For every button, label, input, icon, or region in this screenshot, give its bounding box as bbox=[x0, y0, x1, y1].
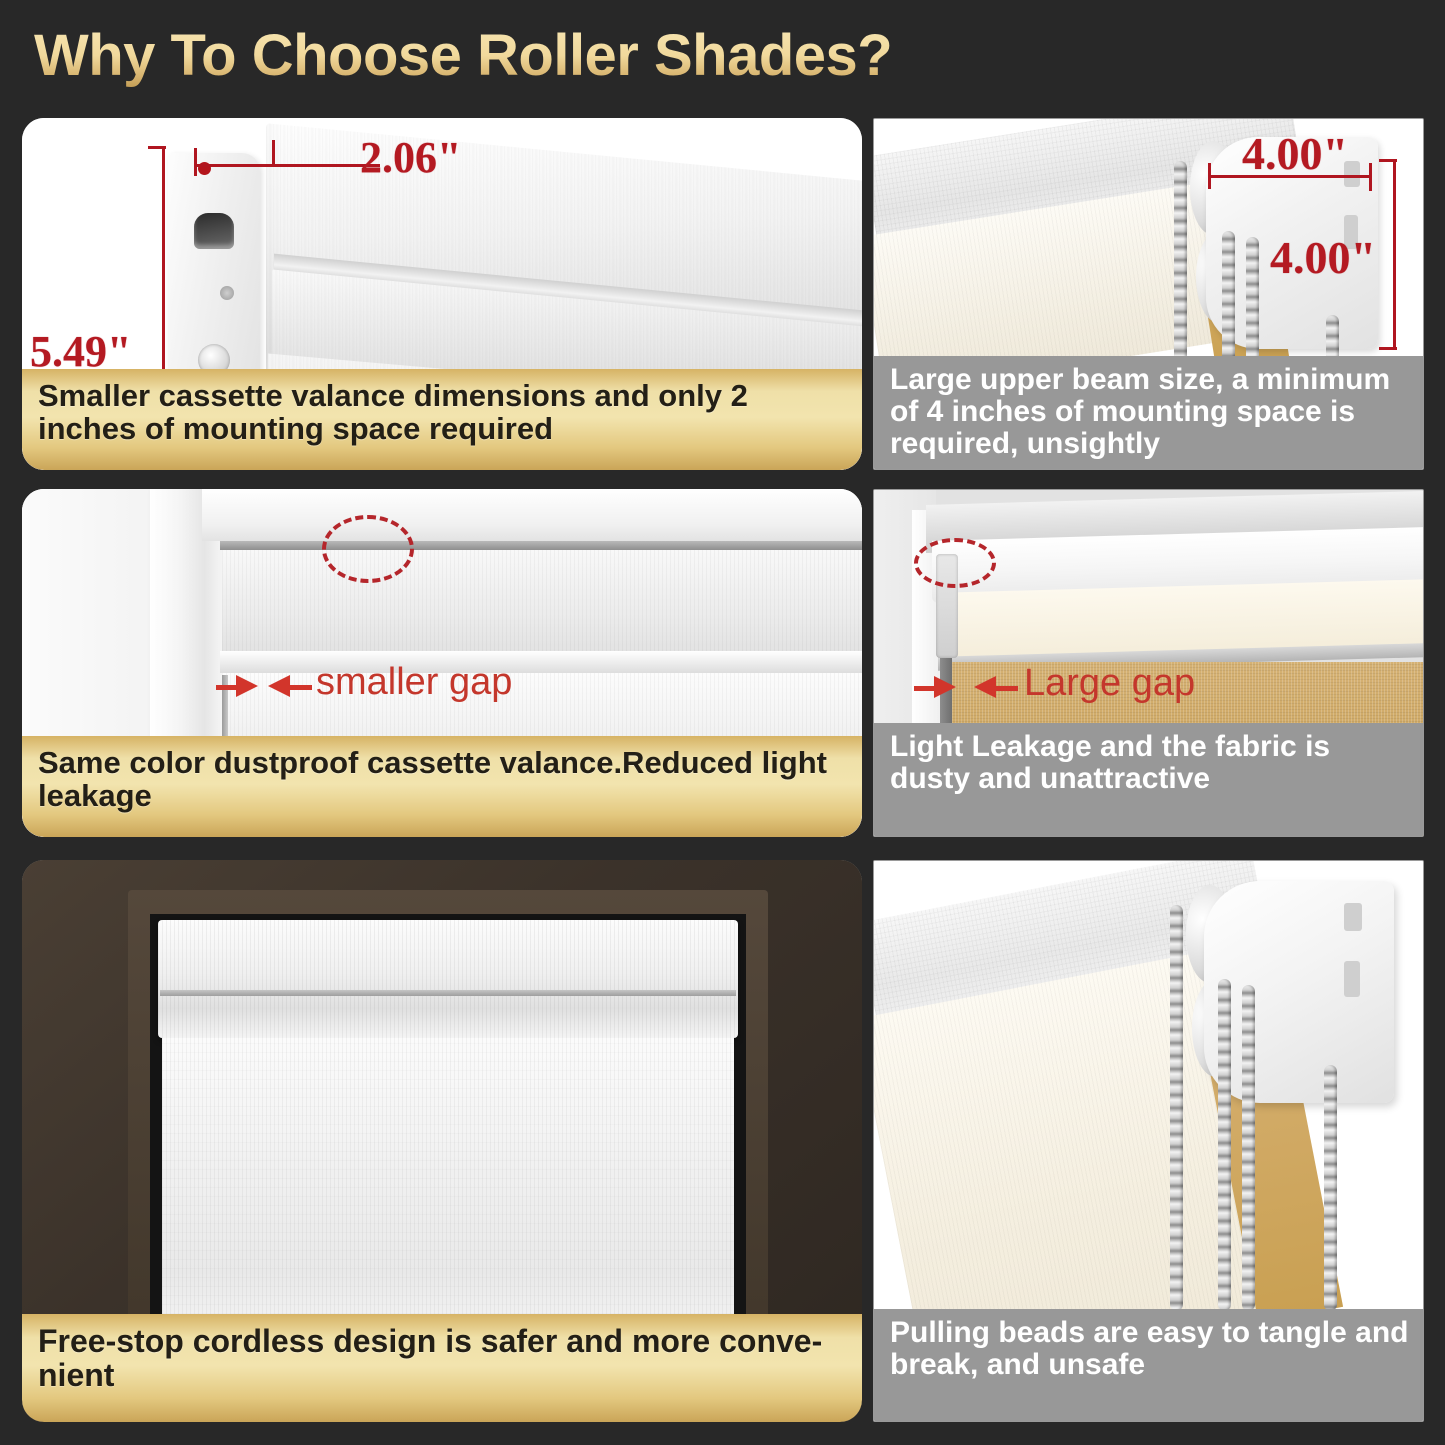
width-dimension-line bbox=[194, 164, 380, 167]
panel-1: 2.06" 5.49" Smaller cassette valance dim… bbox=[22, 118, 862, 470]
highlight-circle-icon bbox=[322, 515, 414, 583]
panel-2-caption: Large upper beam size, a minimum of 4 in… bbox=[874, 356, 1423, 469]
panel-3-caption: Same color dustproof cassette valance.Re… bbox=[22, 736, 862, 837]
width-dimension-label: 2.06" bbox=[360, 132, 461, 183]
gap-label: Large gap bbox=[1024, 662, 1195, 705]
panel-3: smaller gap Same color dustproof cassett… bbox=[22, 489, 862, 837]
panel-2: 4.00" 4.00" Large upper beam size, a min… bbox=[873, 118, 1424, 470]
height-dimension-label: 4.00" bbox=[1270, 231, 1376, 284]
width-dimension-label: 4.00" bbox=[1242, 127, 1348, 180]
panel-5-caption: Free-stop cordless design is safer and m… bbox=[22, 1314, 862, 1422]
bead-chain bbox=[1170, 905, 1183, 1311]
bracket-slot-icon bbox=[194, 213, 234, 249]
gap-label: smaller gap bbox=[316, 661, 512, 704]
panel-6-caption: Pulling beads are easy to tangle and bre… bbox=[874, 1309, 1423, 1421]
panel-5: Free-stop cordless design is safer and m… bbox=[22, 860, 862, 1422]
page-title: Why To Choose Roller Shades? bbox=[34, 22, 892, 89]
panel-4-caption: Light Leakage and the fabric is dusty an… bbox=[874, 723, 1423, 836]
highlight-circle-icon bbox=[914, 538, 996, 588]
panel-6: Pulling beads are easy to tangle and bre… bbox=[873, 860, 1424, 1422]
bead-chain bbox=[1218, 979, 1231, 1311]
bead-chain bbox=[1242, 985, 1255, 1311]
panel-4: Large gap Light Leakage and the fabric i… bbox=[873, 489, 1424, 837]
bead-chain bbox=[1324, 1065, 1337, 1311]
panel-1-caption: Smaller cassette valance dimensions and … bbox=[22, 369, 862, 470]
